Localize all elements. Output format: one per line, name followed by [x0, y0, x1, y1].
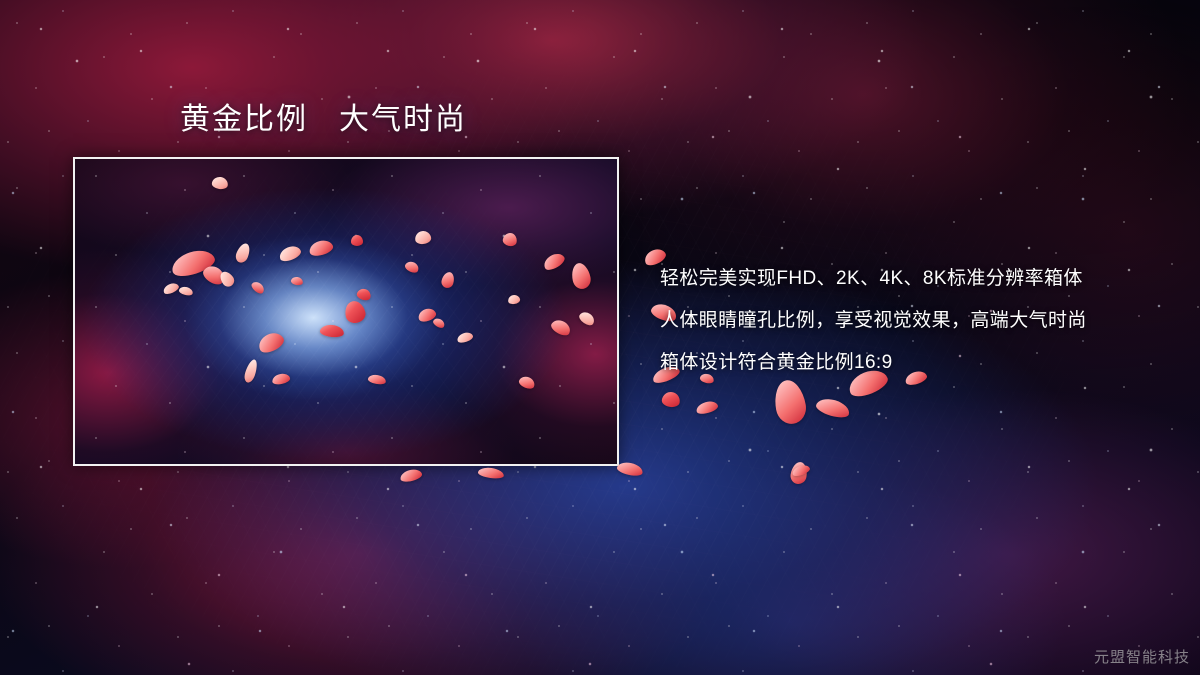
slide-canvas: 黄金比例 大气时尚 轻松完美实现FHD、2K、4K、8K标准分辨率箱体 人体眼睛… — [0, 0, 1200, 675]
page-title: 黄金比例 大气时尚 — [180, 101, 467, 139]
petal-shape — [616, 460, 644, 477]
petal-shape — [661, 391, 681, 408]
petal-shape — [791, 463, 811, 478]
nebula-image-frame — [73, 157, 619, 466]
nebula-photo-stars — [75, 159, 617, 464]
body-text-line: 人体眼睛瞳孔比例，享受视觉效果，高端大气时尚 — [660, 300, 1190, 342]
company-watermark: 元盟智能科技 — [1094, 646, 1190, 667]
petal-shape — [695, 399, 719, 416]
petal-shape — [477, 466, 504, 480]
body-text-block: 轻松完美实现FHD、2K、4K、8K标准分辨率箱体 人体眼睛瞳孔比例，享受视觉效… — [660, 258, 1190, 384]
petal-shape — [789, 461, 809, 485]
petal-shape — [814, 396, 851, 421]
petal-shape — [771, 378, 808, 427]
body-text-line: 轻松完美实现FHD、2K、4K、8K标准分辨率箱体 — [660, 258, 1190, 300]
body-text-line: 箱体设计符合黄金比例16:9 — [660, 342, 1190, 384]
petal-shape — [399, 468, 423, 484]
